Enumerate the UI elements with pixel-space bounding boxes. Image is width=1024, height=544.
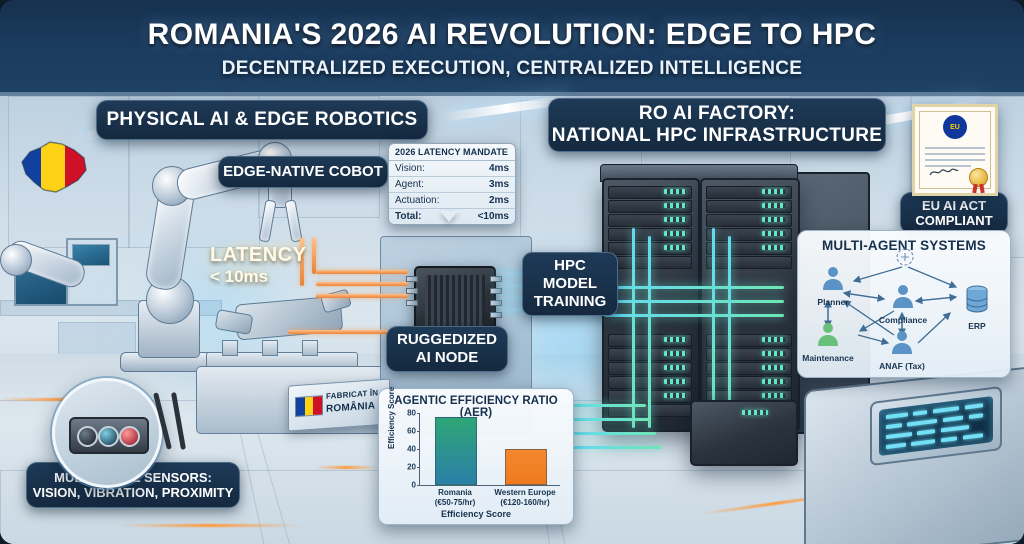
seal-ribbon xyxy=(972,184,978,194)
agent-node-erp: ERP xyxy=(946,285,1008,331)
circuit-flow xyxy=(712,228,715,428)
edge-server-leds xyxy=(742,410,768,415)
hmi-data-cell xyxy=(913,410,927,416)
chart-y-tick-mark xyxy=(417,413,420,414)
hmi-data-cell xyxy=(907,419,937,427)
power-cable xyxy=(316,270,408,274)
chip-pin xyxy=(406,300,418,306)
rack-led-indicators xyxy=(664,379,686,384)
rack-led-indicators xyxy=(664,245,686,250)
chart-bar-label-line: Western Europe xyxy=(491,488,559,498)
agent-node-anaf-tax: ANAF (Tax) xyxy=(871,329,933,371)
pallet-leg xyxy=(302,340,318,356)
certificate-document-icon: EU xyxy=(912,104,998,196)
hmi-data-cell xyxy=(886,423,902,429)
rack-led-indicators xyxy=(762,351,786,356)
circuit-flow xyxy=(604,300,784,303)
hmi-data-cell xyxy=(963,433,983,439)
chip-heatsink-fins xyxy=(425,275,485,329)
hmi-data-cell xyxy=(943,416,963,422)
latency-callout-line1: LATENCY xyxy=(210,244,306,267)
latency-card-title: 2026 LATENCY MANDATE xyxy=(389,144,515,161)
rack-led-indicators xyxy=(664,189,686,194)
circuit-flow xyxy=(632,228,635,428)
vision-camera-lens-icon xyxy=(77,426,98,447)
hpc-line2: MODEL xyxy=(543,275,597,293)
latency-row-value: 2ms xyxy=(489,195,509,206)
circuit-flow xyxy=(604,286,784,289)
pallet-leg xyxy=(262,340,278,356)
chip-pin xyxy=(406,276,418,282)
rack-led-indicators xyxy=(664,393,686,398)
latency-row-name: Agent: xyxy=(395,179,424,190)
power-cable xyxy=(316,294,408,298)
proximity-sensor-lens-icon xyxy=(119,426,140,447)
page-subtitle: DECENTRALIZED EXECUTION, CENTRALIZED INT… xyxy=(0,58,1024,80)
rack-led-indicators xyxy=(664,203,686,208)
latency-callout: LATENCY < 10ms xyxy=(210,244,306,287)
circuit-flow xyxy=(604,314,784,317)
chart-bar xyxy=(435,417,477,485)
hmi-data-cell xyxy=(965,403,983,409)
gold-seal-icon xyxy=(969,168,988,187)
sensor-magnifier xyxy=(52,378,162,488)
hmi-data-cell xyxy=(886,412,908,419)
certificate-text-line xyxy=(925,147,985,149)
agent-node-compliance: Compliance xyxy=(872,283,934,325)
chart-bar-label: Romania(€50-75/hr) xyxy=(421,488,489,508)
eu-stars-icon: EU xyxy=(943,115,967,139)
circuit-flow xyxy=(572,446,662,449)
rack-led-indicators xyxy=(664,365,686,370)
circuit-flow xyxy=(566,432,656,435)
agent-node-planner: Planner xyxy=(802,265,864,307)
rack-led-indicators xyxy=(762,217,786,222)
hmi-data-cell xyxy=(886,443,906,449)
latency-row-name: Vision: xyxy=(395,163,425,174)
hmi-data-cell xyxy=(969,413,983,419)
agent-label: ANAF (Tax) xyxy=(871,361,933,371)
made-in-romania-plate: FABRICAT ÎN ROMÂNIA xyxy=(288,378,390,431)
latency-row: Agent:3ms xyxy=(389,177,515,193)
eu-ai-act-label: EU AI ACT COMPLIANT xyxy=(900,192,1008,234)
signature-icon xyxy=(929,167,959,177)
multimodal-sensor-module xyxy=(69,417,149,454)
sensors-line2: VISION, VIBRATION, PROXIMITY xyxy=(33,485,234,500)
chart-y-tick-mark xyxy=(417,431,420,432)
chart-bar-label: Western Europe(€120-160/hr) xyxy=(491,488,559,508)
rack-led-indicators xyxy=(762,245,786,250)
rack-led-indicators xyxy=(762,365,786,370)
chart-bar-label-line: Romania xyxy=(421,488,489,498)
rack-led-indicators xyxy=(762,203,786,208)
ai-node-line1: RUGGEDIZED xyxy=(397,331,497,349)
power-cable xyxy=(312,238,316,274)
certificate-text-line xyxy=(925,153,985,155)
latency-row-value: 4ms xyxy=(489,163,509,174)
robot-secondary-joint xyxy=(0,244,32,276)
hpc-line1: HPC xyxy=(554,257,586,275)
hmi-data-cell xyxy=(933,406,959,413)
latency-card-pointer xyxy=(440,211,458,222)
chip-pin xyxy=(406,288,418,294)
latency-row-name: Total: xyxy=(395,211,421,222)
chart-bar-label-line: (€50-75/hr) xyxy=(421,498,489,508)
agent-node-maintenance: Maintenance xyxy=(797,321,859,363)
rack-led-indicators xyxy=(664,337,686,342)
chart-y-tick-label: 60 xyxy=(407,427,416,436)
chart-y-tick-label: 20 xyxy=(407,463,416,472)
server-blade xyxy=(706,256,792,269)
chart-y-tick-label: 0 xyxy=(412,481,416,490)
certificate-text-line xyxy=(925,159,985,161)
label-hpc-model-training: HPC MODEL TRAINING xyxy=(522,252,618,316)
ro-ai-factory-line2: NATIONAL HPC INFRASTRUCTURE xyxy=(552,125,882,147)
floor-accent-strip xyxy=(120,524,300,527)
machine-hmi-screen xyxy=(879,396,993,456)
eu-mark-text: EU xyxy=(950,124,960,131)
latency-row-value: <10ms xyxy=(478,211,509,222)
seal-ribbon xyxy=(979,184,985,194)
label-ruggedized-ai-node: RUGGEDIZED AI NODE xyxy=(386,326,508,372)
chart-y-tick-mark xyxy=(417,467,420,468)
section-header-ro-ai-factory: RO AI FACTORY: NATIONAL HPC INFRASTRUCTU… xyxy=(548,98,886,152)
multi-agent-systems-panel: MULTI-AGENT SYSTEMS xyxy=(797,230,1011,378)
chip-pin xyxy=(490,300,502,306)
romania-map-flag-icon xyxy=(16,136,90,198)
floor-accent-strip xyxy=(316,466,376,469)
chart-y-tick-mark xyxy=(417,449,420,450)
label-edge-native-cobot: EDGE-NATIVE COBOT xyxy=(218,156,388,188)
hmi-data-cell xyxy=(911,439,935,446)
section-header-physical-ai: PHYSICAL AI & EDGE ROBOTICS xyxy=(96,100,428,140)
chart-x-axis-label: Efficiency Score xyxy=(379,509,573,519)
cert-line2: COMPLIANT xyxy=(915,213,992,228)
chart-bar-label-line: (€120-160/hr) xyxy=(491,498,559,508)
hmi-data-cell xyxy=(886,432,912,439)
latency-callout-line2: < 10ms xyxy=(210,267,306,287)
person-icon xyxy=(815,321,841,347)
rack-led-indicators xyxy=(664,351,686,356)
ai-node-line2: AI NODE xyxy=(416,349,479,367)
chart-plot-area: 020406080Romania(€50-75/hr)Western Europ… xyxy=(419,413,560,486)
person-icon xyxy=(820,265,846,291)
agent-label: Compliance xyxy=(872,315,934,325)
latency-row-value: 3ms xyxy=(489,179,509,190)
rack-led-indicators xyxy=(762,337,786,342)
chart-bar xyxy=(505,449,547,485)
ro-ai-factory-line1: RO AI FACTORY: xyxy=(639,103,795,125)
page-title: ROMANIA'S 2026 AI REVOLUTION: EDGE TO HP… xyxy=(0,18,1024,52)
person-icon xyxy=(889,329,915,355)
rack-led-indicators xyxy=(762,189,786,194)
cert-line1: EU AI ACT xyxy=(922,198,986,213)
chart-y-axis-label: Efficiency Score xyxy=(387,387,396,449)
pallet-leg xyxy=(222,340,238,356)
rack-led-indicators xyxy=(664,231,686,236)
agent-label: Maintenance xyxy=(797,353,859,363)
database-icon xyxy=(964,285,990,315)
chart-y-tick-label: 80 xyxy=(407,409,416,418)
chip-pin xyxy=(490,288,502,294)
infographic-canvas: ROMANIA'S 2026 AI REVOLUTION: EDGE TO HP… xyxy=(0,0,1024,544)
hmi-data-cell xyxy=(941,436,957,442)
hmi-data-cell xyxy=(941,425,969,432)
rack-led-indicators xyxy=(762,231,786,236)
rack-led-indicators xyxy=(762,379,786,384)
agent-label: Planner xyxy=(802,297,864,307)
latency-row: Vision:4ms xyxy=(389,161,515,177)
eu-ai-act-badge: EU AI ACT COMPLIANT EU xyxy=(900,104,1006,214)
person-icon xyxy=(890,283,916,309)
chart-y-tick-label: 40 xyxy=(407,445,416,454)
depth-camera-lens-icon xyxy=(98,426,119,447)
latency-row: Actuation:2ms xyxy=(389,193,515,209)
hmi-data-cell xyxy=(917,429,935,435)
rack-led-indicators xyxy=(762,393,786,398)
chip-pin xyxy=(490,312,502,318)
made-in-romania-text: FABRICAT ÎN ROMÂNIA xyxy=(326,388,378,416)
chip-pin xyxy=(490,276,502,282)
chart-y-tick-mark xyxy=(417,485,420,486)
circuit-flow xyxy=(648,236,651,428)
hpc-line3: TRAINING xyxy=(534,293,607,311)
aer-chart-card: AGENTIC EFFICIENCY RATIO (AER) Efficienc… xyxy=(378,388,574,525)
made-in-line2: ROMÂNIA xyxy=(326,399,378,416)
latency-row-name: Actuation: xyxy=(395,195,439,206)
rack-led-indicators xyxy=(664,217,686,222)
power-cable xyxy=(316,282,408,286)
romania-flag-icon xyxy=(295,395,323,417)
agent-label: ERP xyxy=(946,321,1008,331)
